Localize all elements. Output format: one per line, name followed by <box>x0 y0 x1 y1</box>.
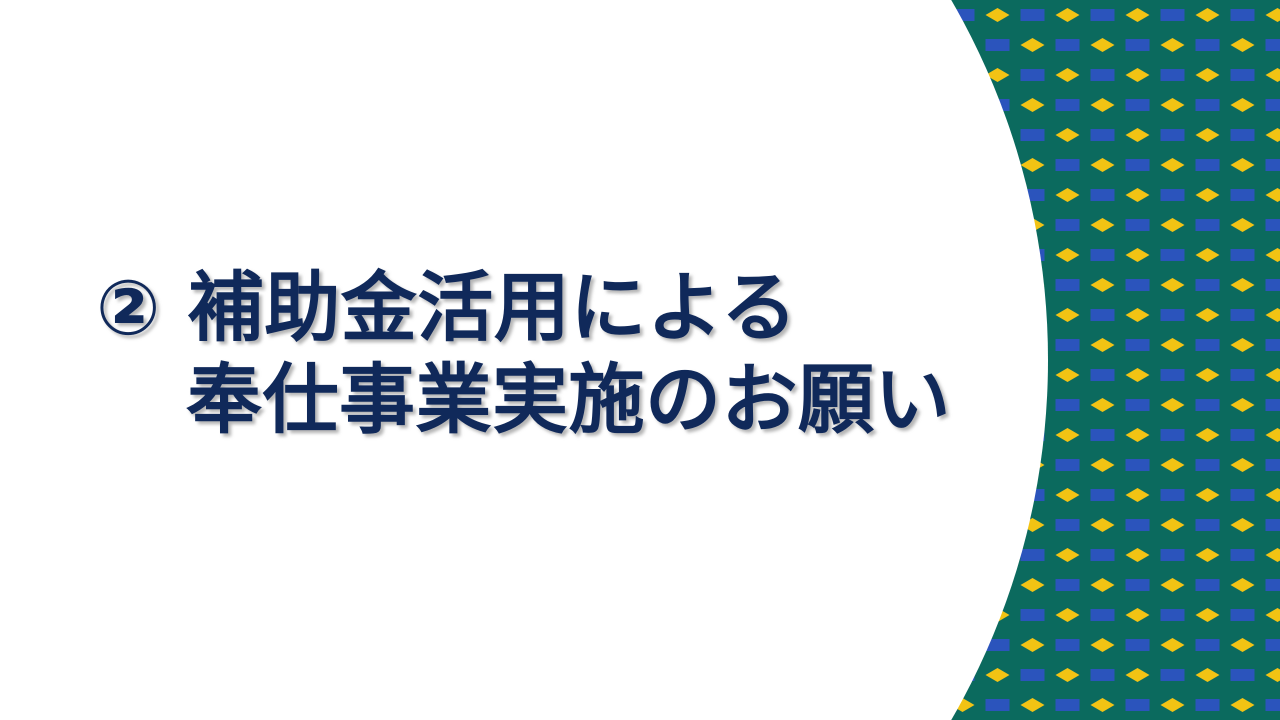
title-line-1: ② 補助金活用による <box>96 262 976 354</box>
title-line-2: 奉仕事業実施のお願い <box>96 354 976 446</box>
slide-canvas: .pat-bg { fill: #0B6A5E; } .pat-diamond … <box>0 0 1280 720</box>
slide-title: ② 補助金活用による 奉仕事業実施のお願い <box>96 262 976 446</box>
